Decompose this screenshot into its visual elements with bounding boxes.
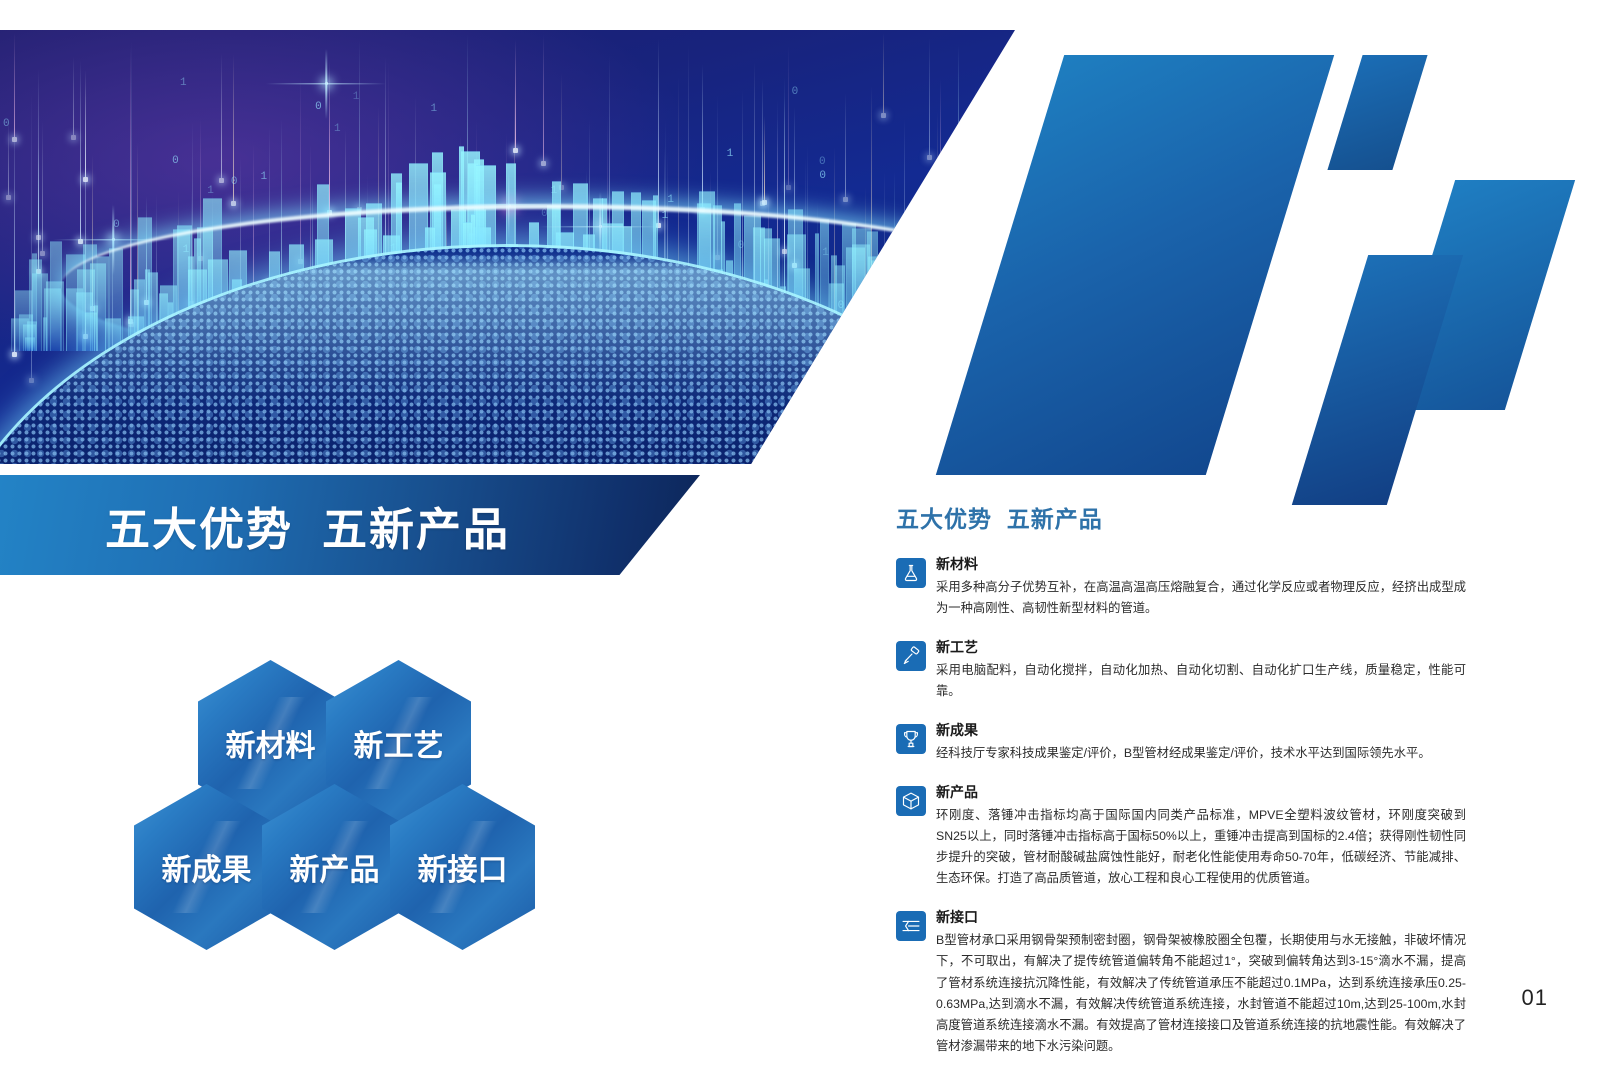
hexagon-label: 新工艺: [354, 721, 444, 765]
feature-body: 新成果 经科技厅专家科技成果鉴定/评价，B型管材经成果鉴定/评价，技术水平达到国…: [936, 722, 1466, 764]
page-number: 01: [1522, 985, 1548, 1011]
feature-description: 环刚度、落锤冲击指标均高于国际国内同类产品标准，MPVE全塑料波纹管材，环刚度突…: [936, 805, 1466, 890]
feature-item-new-process: 新工艺 采用电脑配料，自动化搅拌，自动化加热、自动化切割、自动化扩口生产线，质量…: [896, 639, 1466, 702]
banner-title: 五大优势 五新产品: [105, 493, 510, 558]
pipe-joint-icon: [896, 911, 926, 941]
paint-roller-icon: [896, 641, 926, 671]
feature-name: 新材料: [936, 556, 1466, 573]
section-title: 五大优势 五新产品: [896, 500, 1466, 534]
feature-list-section: 五大优势 五新产品 新材料 采用多种高分子优势互补，在高温高温高压熔融复合，通过…: [896, 500, 1466, 1077]
feature-name: 新工艺: [936, 639, 1466, 656]
hexagon-label: 新接口: [418, 845, 508, 889]
feature-body: 新产品 环刚度、落锤冲击指标均高于国际国内同类产品标准，MPVE全塑料波纹管材，…: [936, 784, 1466, 889]
title-banner: 五大优势 五新产品: [0, 475, 700, 575]
feature-item-new-product: 新产品 环刚度、落锤冲击指标均高于国际国内同类产品标准，MPVE全塑料波纹管材，…: [896, 784, 1466, 889]
feature-name: 新成果: [936, 722, 1466, 739]
feature-description: 经科技厅专家科技成果鉴定/评价，B型管材经成果鉴定/评价，技术水平达到国际领先水…: [936, 743, 1466, 764]
hero-tech-city-image: 00110100010101100011110111: [0, 30, 1015, 464]
feature-name: 新接口: [936, 909, 1466, 926]
feature-description: 采用多种高分子优势互补，在高温高温高压熔融复合，通过化学反应或者物理反应，经挤出…: [936, 577, 1466, 619]
trophy-icon: [896, 724, 926, 754]
feature-body: 新材料 采用多种高分子优势互补，在高温高温高压熔融复合，通过化学反应或者物理反应…: [936, 556, 1466, 619]
feature-description: 采用电脑配料，自动化搅拌，自动化加热、自动化切割、自动化扩口生产线，质量稳定，性…: [936, 660, 1466, 702]
decorative-shape-large: [936, 55, 1334, 475]
feature-body: 新接口 B型管材承口采用钢骨架预制密封圈，钢骨架被橡胶圈全包覆，长期使用与水无接…: [936, 909, 1466, 1057]
hexagon-label: 新产品: [290, 845, 380, 889]
hero-flare-1: [325, 82, 328, 85]
feature-name: 新产品: [936, 784, 1466, 801]
feature-item-new-interface: 新接口 B型管材承口采用钢骨架预制密封圈，钢骨架被橡胶圈全包覆，长期使用与水无接…: [896, 909, 1466, 1057]
decorative-shape-small-top: [1327, 55, 1427, 170]
flask-icon: [896, 558, 926, 588]
hexagon-label: 新材料: [226, 721, 316, 765]
feature-body: 新工艺 采用电脑配料，自动化搅拌，自动化加热、自动化切割、自动化扩口生产线，质量…: [936, 639, 1466, 702]
decorative-shapes-group: [990, 0, 1600, 500]
feature-description: B型管材承口采用钢骨架预制密封圈，钢骨架被橡胶圈全包覆，长期使用与水无接触，非破…: [936, 930, 1466, 1057]
feature-item-new-achievement: 新成果 经科技厅专家科技成果鉴定/评价，B型管材经成果鉴定/评价，技术水平达到国…: [896, 722, 1466, 764]
hero-globe-dots: [0, 247, 1015, 464]
hexagon-label: 新成果: [162, 845, 252, 889]
hexagon-cluster: 新材料 新工艺 新成果 新产品 新接口: [138, 660, 538, 950]
feature-item-new-material: 新材料 采用多种高分子优势互补，在高温高温高压熔融复合，通过化学反应或者物理反应…: [896, 556, 1466, 619]
cube-icon: [896, 786, 926, 816]
